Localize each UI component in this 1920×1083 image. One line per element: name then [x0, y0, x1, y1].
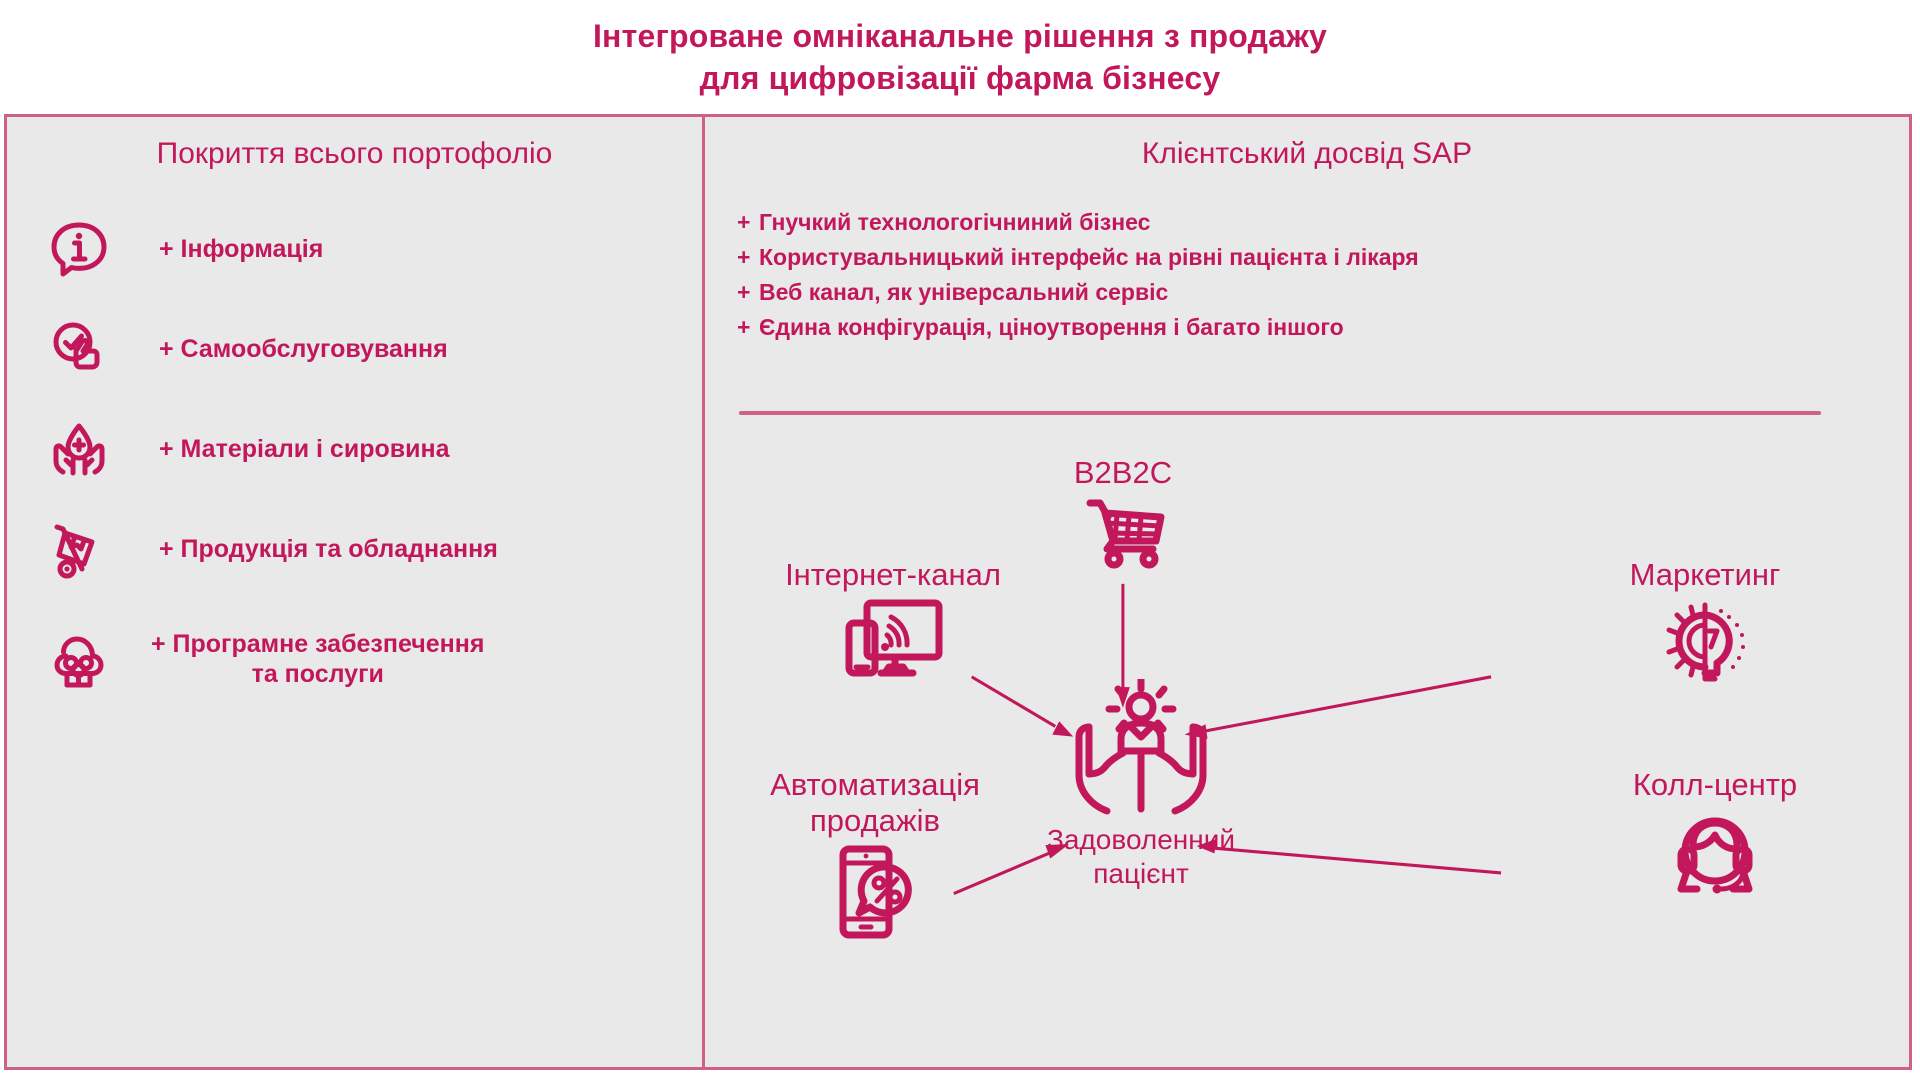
section-separator: [739, 411, 1821, 415]
node-label: Інтернет-канал: [613, 557, 1173, 593]
benefit-text: Веб канал, як універсальний сервіс: [759, 279, 1168, 305]
list-item-products[interactable]: + Продукція та обладнання: [7, 499, 702, 599]
node-label: B2B2C: [973, 455, 1273, 491]
page-title-line-2: для цифровізації фарма бізнесу: [0, 58, 1920, 100]
center-label: Задоволенний пацієнт: [991, 823, 1291, 890]
list-item-information[interactable]: + Інформація: [7, 199, 702, 299]
hands-droplet-icon: [43, 413, 115, 485]
hands-holding-person-icon: [991, 679, 1291, 819]
diagram-node-call-center[interactable]: Колл-центр: [1485, 767, 1920, 901]
information-bubble-icon: [43, 213, 115, 285]
benefits-list: +Гнучкий технологогічниний бізнес +Корис…: [737, 205, 1419, 345]
monitor-phone-wifi-icon: [613, 595, 1173, 687]
list-item-label-line-2: та послуги: [252, 660, 384, 688]
diagram-center-satisfied-patient[interactable]: Задоволенний пацієнт: [991, 677, 1291, 890]
list-item-label: + Самообслуговування: [159, 334, 448, 365]
node-label: Маркетинг: [1475, 557, 1920, 593]
headset-operator-icon: [1485, 805, 1920, 901]
list-item-label: + Інформація: [159, 234, 323, 265]
list-item-label: + Програмне забезпечення та послуги: [151, 629, 484, 690]
list-item-self-service[interactable]: + Самообслуговування: [7, 299, 702, 399]
bullet-marker: +: [737, 275, 759, 310]
list-item-label: + Матеріали і сировина: [159, 434, 450, 465]
diagram-arrows: [705, 427, 1909, 1067]
benefit-item: +Веб канал, як універсальний сервіс: [737, 275, 1419, 310]
cloud-gears-icon: [43, 623, 115, 695]
benefit-text: Єдина конфігурація, ціноутворення і бага…: [759, 314, 1344, 340]
benefit-item: +Єдина конфігурація, ціноутворення і баг…: [737, 310, 1419, 345]
hand-truck-boxes-icon: [43, 513, 115, 585]
center-label-line-1: Задоволенний: [1047, 824, 1235, 855]
list-item-materials[interactable]: + Матеріали і сировина: [7, 399, 702, 499]
list-item-software[interactable]: + Програмне забезпечення та послуги: [7, 599, 702, 719]
right-panel: Клієнтський досвід SAP +Гнучкий технолог…: [705, 117, 1909, 1067]
left-panel-heading: Покриття всього портофоліо: [7, 117, 702, 171]
center-label-line-2: пацієнт: [1093, 858, 1189, 889]
bullet-marker: +: [737, 240, 759, 275]
node-label-line-1: Автоматизація: [770, 767, 980, 802]
diagram-node-b2b2c[interactable]: B2B2C: [973, 455, 1273, 571]
gear-lightbulb-icon: [1475, 595, 1920, 687]
node-label-line-2: продажів: [810, 803, 940, 838]
portfolio-list: + Інформація + Самообслуговування: [7, 199, 702, 719]
benefit-text: Користувальницький інтерфейс на рівні па…: [759, 244, 1419, 270]
benefit-item: +Гнучкий технологогічниний бізнес: [737, 205, 1419, 240]
benefit-item: +Користувальницький інтерфейс на рівні п…: [737, 240, 1419, 275]
page-title-line-1: Інтегроване омніканальне рішення з прода…: [0, 16, 1920, 58]
customer-experience-diagram: B2B2C Інтернет-канал: [705, 427, 1909, 1067]
node-label: Колл-центр: [1485, 767, 1920, 803]
bullet-marker: +: [737, 310, 759, 345]
diagram-node-marketing[interactable]: Маркетинг: [1475, 557, 1920, 687]
diagram-node-internet-channel[interactable]: Інтернет-канал: [613, 557, 1173, 687]
page-title: Інтегроване омніканальне рішення з прода…: [0, 16, 1920, 99]
bullet-marker: +: [737, 205, 759, 240]
right-panel-heading: Клієнтський досвід SAP: [705, 117, 1909, 171]
benefit-text: Гнучкий технологогічниний бізнес: [759, 209, 1150, 235]
list-item-label-line-1: + Програмне забезпечення: [151, 630, 484, 658]
self-service-click-icon: [43, 313, 115, 385]
list-item-label: + Продукція та обладнання: [159, 534, 498, 565]
content-board: Покриття всього портофоліо + Інформація: [4, 114, 1912, 1070]
